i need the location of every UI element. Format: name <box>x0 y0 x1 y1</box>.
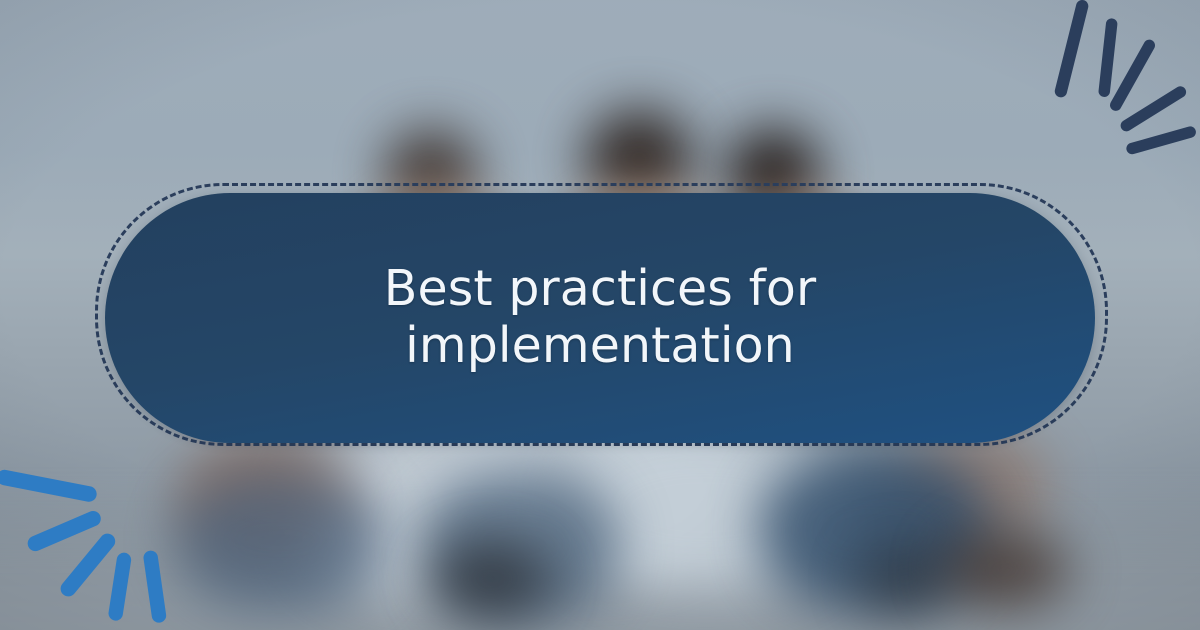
burst-stroke-1 <box>5 478 89 494</box>
headline-badge: Best practices for implementation <box>105 193 1095 443</box>
sparkle-burst-bottom-left <box>0 459 186 630</box>
burst-stroke-5 <box>151 558 159 616</box>
burst-stroke-3 <box>68 541 107 588</box>
page-title: Best practices for implementation <box>314 261 887 375</box>
poster-canvas: Best practices for implementation <box>0 0 1200 630</box>
badge-fill: Best practices for implementation <box>105 193 1095 443</box>
burst-stroke-4 <box>116 560 124 614</box>
burst-stroke-3 <box>1116 45 1150 105</box>
burst-stroke-5 <box>1132 132 1190 148</box>
burst-stroke-1 <box>1061 6 1082 91</box>
burst-stroke-2 <box>1104 24 1111 91</box>
burst-stroke-4 <box>1126 92 1180 126</box>
sparkle-burst-top-right <box>1020 0 1200 159</box>
burst-stroke-2 <box>35 519 93 544</box>
